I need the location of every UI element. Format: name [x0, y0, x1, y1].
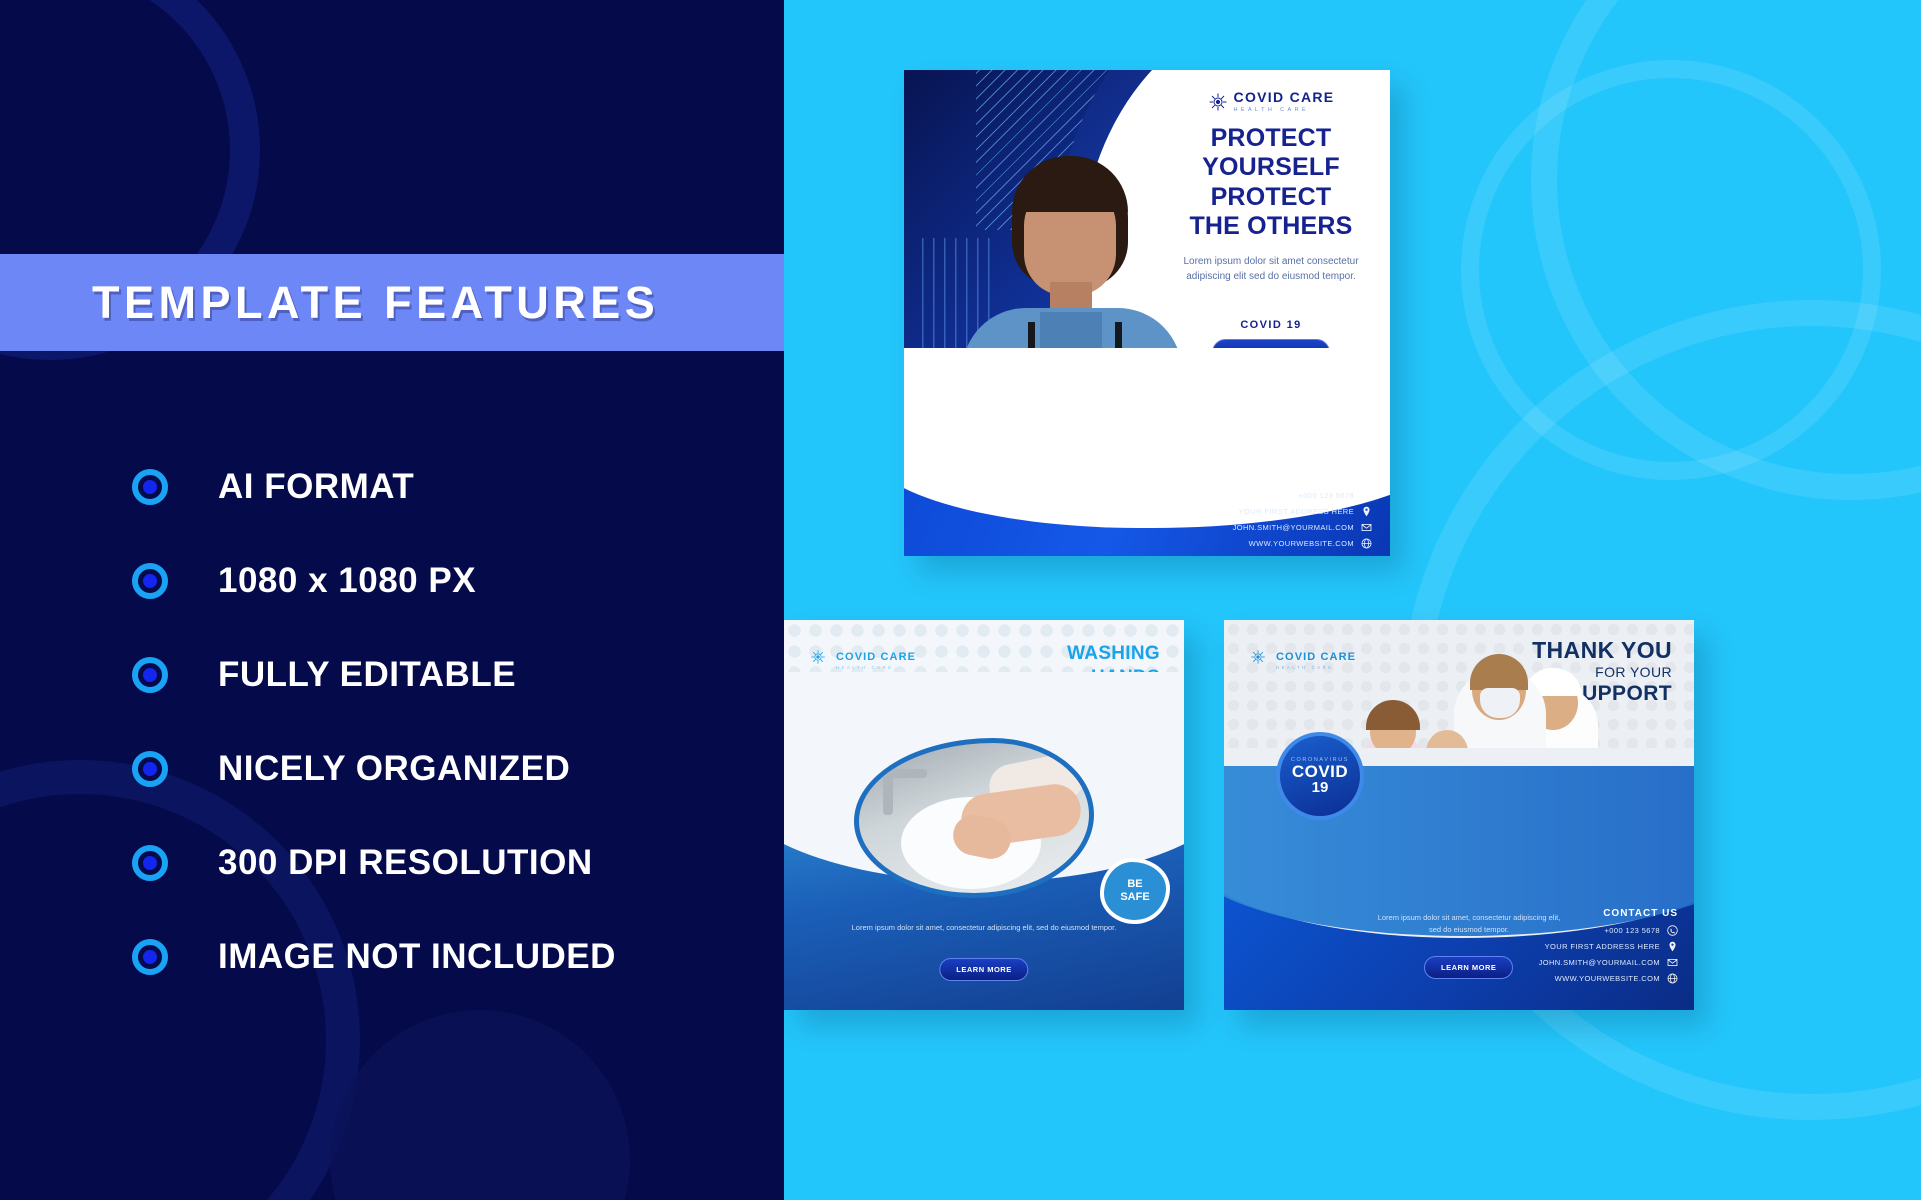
- feature-label: AI FORMAT: [218, 467, 414, 507]
- brand-logo: COVID CARE HEALTH CARE: [810, 648, 916, 670]
- brand-logo: COVID CARE HEALTH CARE: [1152, 90, 1390, 114]
- badge-bottom-text: 19: [1312, 780, 1329, 795]
- learn-more-button-wrap: LEARN MORE: [939, 958, 1028, 981]
- headline-line: PROTECT: [1152, 124, 1390, 154]
- thanks-body-text: Lorem ipsum dolor sit amet, consectetur …: [1374, 912, 1564, 936]
- be-safe-text: BESAFE: [1120, 878, 1149, 904]
- screenshot-root: TEMPLATE FEATURES AI FORMAT 1080 x 1080 …: [0, 0, 1921, 1200]
- brand-name: COVID CARE: [1234, 89, 1335, 105]
- poster-covid-label: COVID 19: [1152, 319, 1390, 331]
- radio-bullet-icon: [132, 657, 168, 693]
- radio-bullet-icon: [132, 751, 168, 787]
- brand-tagline: HEALTH CARE: [836, 666, 916, 670]
- contact-row: YOUR FIRST ADDRESS HERE: [1233, 506, 1372, 517]
- list-item: NICELY ORGANIZED: [132, 722, 732, 816]
- headline-line: YOURSELF: [1152, 153, 1390, 183]
- phone-icon: [1667, 925, 1678, 936]
- feature-label: FULLY EDITABLE: [218, 655, 516, 695]
- covid-19-badge: CORONAVIRUS COVID 19: [1276, 732, 1364, 820]
- contact-email-text: JOHN.SMITH@YOURMAIL.COM: [1233, 523, 1354, 532]
- virus-icon: [810, 649, 830, 669]
- poster-contact-band: CONTACT US +000 123 5678 YOUR FIRST ADDR…: [904, 434, 1390, 556]
- radio-bullet-icon: [132, 563, 168, 599]
- poster-body-text: Lorem ipsum dolor sit amet consectetur a…: [1152, 254, 1390, 285]
- brand-text: COVID CARE HEALTH CARE: [1234, 90, 1335, 114]
- brand-text: COVID CARE HEALTH CARE: [836, 648, 916, 670]
- learn-more-button[interactable]: LEARN MORE: [939, 958, 1028, 981]
- preview-canvas: COVID CARE HEALTH CARE PROTECT YOURSELF …: [784, 0, 1921, 1200]
- contact-phone-text: +000 123 5678: [1605, 926, 1660, 935]
- list-item: FULLY EDITABLE: [132, 628, 732, 722]
- contact-title: CONTACT US: [1539, 908, 1678, 919]
- contact-email-text: JOHN.SMITH@YOURMAIL.COM: [1539, 958, 1660, 967]
- contact-row: +000 123 5678: [1539, 925, 1678, 936]
- contact-address-text: YOUR FIRST ADDRESS HERE: [1239, 507, 1354, 516]
- contact-row: WWW.YOURWEBSITE.COM: [1233, 538, 1372, 549]
- contact-row: YOUR FIRST ADDRESS HERE: [1539, 941, 1678, 952]
- globe-icon: [1667, 973, 1678, 984]
- poster-card-thank-you[interactable]: COVID CARE HEALTH CARE THANK YOU FOR YOU…: [1224, 620, 1694, 1010]
- panel-title-band: TEMPLATE FEATURES: [0, 254, 784, 351]
- globe-icon: [1361, 538, 1372, 549]
- radio-bullet-icon: [132, 939, 168, 975]
- contact-row: +000 123 5678: [1233, 490, 1372, 501]
- feature-label: NICELY ORGANIZED: [218, 749, 570, 789]
- poster-card-protect-yourself[interactable]: COVID CARE HEALTH CARE PROTECT YOURSELF …: [904, 70, 1390, 556]
- wash-title-line1: WASHING: [1067, 642, 1160, 666]
- template-features-panel: TEMPLATE FEATURES AI FORMAT 1080 x 1080 …: [0, 0, 784, 1200]
- contact-title: CONTACT US: [1233, 468, 1372, 483]
- contact-website-text: WWW.YOURWEBSITE.COM: [1249, 539, 1354, 548]
- feature-list: AI FORMAT 1080 x 1080 PX FULLY EDITABLE …: [132, 440, 732, 1004]
- contact-block: CONTACT US +000 123 5678 YOUR FIRST ADDR…: [1539, 908, 1678, 989]
- phone-icon: [1361, 490, 1372, 501]
- decorative-arc: [1461, 60, 1881, 480]
- poster-card-washing-hands[interactable]: COVID CARE HEALTH CARE WASHING HANDS BES…: [784, 620, 1184, 1010]
- virus-icon: [1208, 92, 1228, 112]
- contact-block: CONTACT US +000 123 5678 YOUR FIRST ADDR…: [1233, 468, 1372, 554]
- radio-bullet-icon: [132, 845, 168, 881]
- contact-address-text: YOUR FIRST ADDRESS HERE: [1545, 942, 1660, 951]
- list-item: 1080 x 1080 PX: [132, 534, 732, 628]
- contact-row: JOHN.SMITH@YOURMAIL.COM: [1233, 522, 1372, 533]
- list-item: IMAGE NOT INCLUDED: [132, 910, 732, 1004]
- location-icon: [1667, 941, 1678, 952]
- mail-icon: [1361, 522, 1372, 533]
- location-icon: [1361, 506, 1372, 517]
- page-title: TEMPLATE FEATURES: [92, 277, 659, 329]
- contact-website-text: WWW.YOURWEBSITE.COM: [1555, 974, 1660, 983]
- brand-tagline: HEALTH CARE: [1234, 108, 1335, 114]
- list-item: AI FORMAT: [132, 440, 732, 534]
- learn-more-button-wrap: LEARN MORE: [1424, 956, 1513, 979]
- contact-phone-text: +000 123 5678: [1299, 491, 1354, 500]
- virus-icon: [1250, 649, 1270, 669]
- feature-label: 300 DPI RESOLUTION: [218, 843, 593, 883]
- decorative-circle-bottom: [330, 1010, 630, 1200]
- headline-line: THE OTHERS: [1152, 212, 1390, 242]
- list-item: 300 DPI RESOLUTION: [132, 816, 732, 910]
- badge-mid-text: COVID: [1292, 763, 1348, 780]
- brand-name: COVID CARE: [836, 651, 916, 663]
- poster-headline: PROTECT YOURSELF PROTECT THE OTHERS: [1152, 124, 1390, 242]
- poster-text-block: COVID CARE HEALTH CARE PROTECT YOURSELF …: [1152, 90, 1390, 366]
- contact-row: JOHN.SMITH@YOURMAIL.COM: [1539, 957, 1678, 968]
- wash-body-text: Lorem ipsum dolor sit amet, consectetur …: [784, 922, 1184, 934]
- headline-line: PROTECT: [1152, 183, 1390, 213]
- radio-bullet-icon: [132, 469, 168, 505]
- feature-label: IMAGE NOT INCLUDED: [218, 937, 616, 977]
- learn-more-button[interactable]: LEARN MORE: [1424, 956, 1513, 979]
- contact-row: WWW.YOURWEBSITE.COM: [1539, 973, 1678, 984]
- feature-label: 1080 x 1080 PX: [218, 561, 476, 601]
- mail-icon: [1667, 957, 1678, 968]
